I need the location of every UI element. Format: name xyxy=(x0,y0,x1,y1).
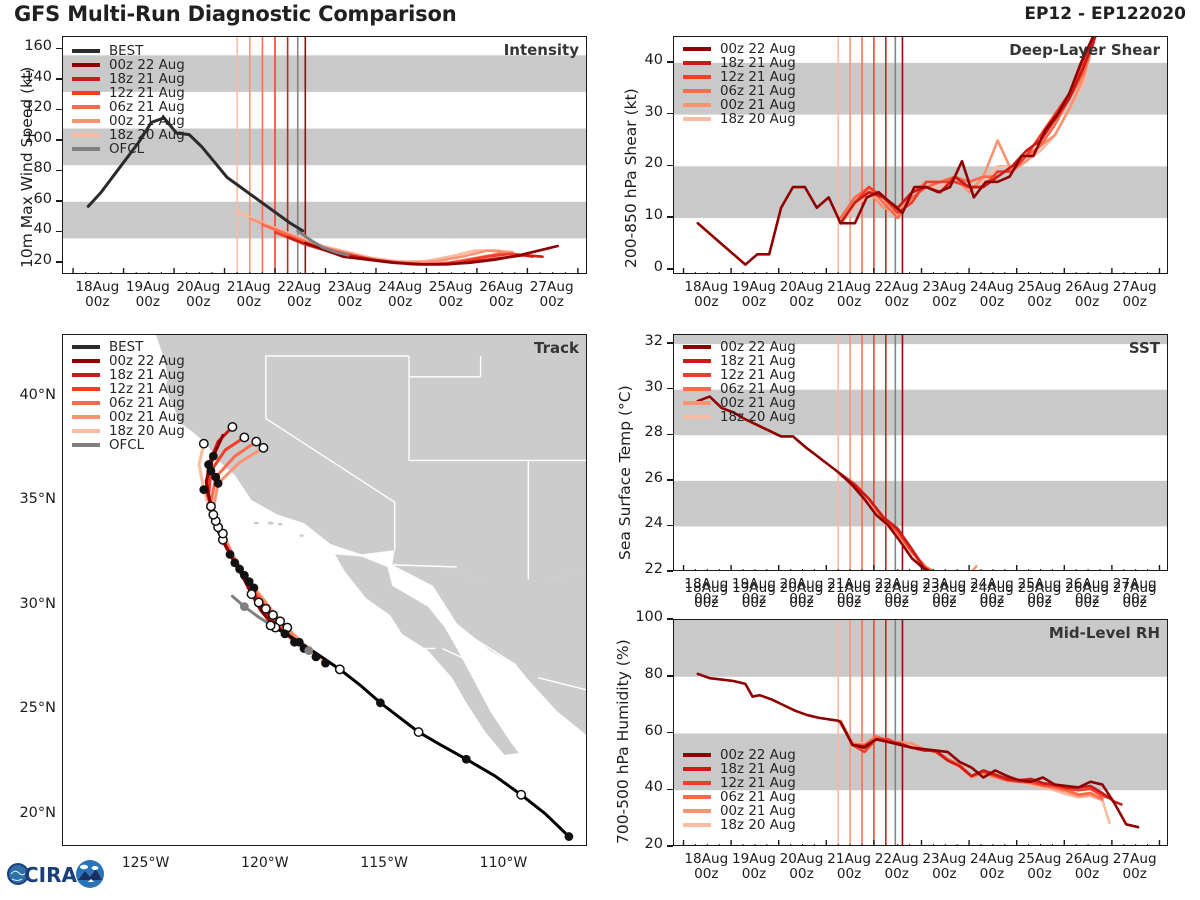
axis-tick-hour: 00z xyxy=(742,866,766,882)
legend-item-label: 00z 21 Aug xyxy=(109,114,185,129)
legend-item[interactable]: 12z 21 Aug xyxy=(72,382,185,396)
track-panel-title: Track xyxy=(534,339,579,357)
legend-item-label: 12z 21 Aug xyxy=(109,382,185,397)
legend-color-swatch xyxy=(72,147,100,151)
legend-item-label: 12z 21 Aug xyxy=(720,368,796,383)
axis-tick-mark xyxy=(56,78,62,80)
legend-color-swatch xyxy=(72,345,100,349)
legend-color-swatch xyxy=(72,429,100,433)
axis-tick-mark xyxy=(667,675,673,677)
legend-item-label: 00z 21 Aug xyxy=(720,98,796,113)
legend-item-label: 00z 21 Aug xyxy=(720,396,796,411)
axis-tick-label: 30°N xyxy=(0,596,56,612)
axis-tick-label: 26 xyxy=(621,470,663,486)
axis-tick-label: 125°W xyxy=(106,856,186,872)
axis-tick-hour: 00z xyxy=(1027,294,1051,310)
axis-tick-date: 27Aug xyxy=(1113,851,1157,867)
legend-item-label: 00z 22 Aug xyxy=(109,354,185,369)
axis-tick-date: 23Aug xyxy=(328,279,372,295)
axis-tick-hour: 00z xyxy=(1122,595,1146,611)
axis-tick-label: 27Aug00z xyxy=(1101,280,1169,310)
axis-tick-mark xyxy=(667,434,673,436)
axis-tick-hour: 00z xyxy=(1122,294,1146,310)
legend-item[interactable]: OFCL xyxy=(72,438,185,452)
legend-color-swatch xyxy=(683,373,711,377)
axis-tick-mark xyxy=(56,139,62,141)
rh-panel-title: Mid-Level RH xyxy=(1049,624,1160,642)
axis-tick-hour: 00z xyxy=(694,595,718,611)
legend-item[interactable]: 12z 21 Aug xyxy=(683,776,796,790)
legend-item[interactable]: 00z 21 Aug xyxy=(683,396,796,410)
axis-tick-hour: 00z xyxy=(932,294,956,310)
axis-tick-hour: 00z xyxy=(980,595,1004,611)
legend-color-swatch xyxy=(683,75,711,79)
legend-item[interactable]: 06z 21 Aug xyxy=(72,396,185,410)
legend-item-label: OFCL xyxy=(109,142,144,157)
legend-color-swatch xyxy=(683,795,711,799)
axis-tick-hour: 00z xyxy=(1027,866,1051,882)
rh-legend: 00z 22 Aug18z 21 Aug12z 21 Aug06z 21 Aug… xyxy=(683,748,796,832)
axis-tick-label: 60 xyxy=(621,723,663,739)
legend-color-swatch xyxy=(72,415,100,419)
legend-color-swatch xyxy=(72,359,100,363)
axis-tick-date: 25Aug xyxy=(429,279,473,295)
legend-item-label: 00z 21 Aug xyxy=(109,410,185,425)
axis-tick-mark xyxy=(56,109,62,111)
legend-item[interactable]: 18z 20 Aug xyxy=(683,818,796,832)
legend-item-label: 00z 22 Aug xyxy=(720,42,796,57)
axis-tick-hour: 00z xyxy=(742,595,766,611)
axis-tick-label: 80 xyxy=(10,160,52,176)
legend-color-swatch xyxy=(72,119,100,123)
axis-tick-label: 40 xyxy=(621,52,663,68)
axis-tick-label: 28 xyxy=(621,424,663,440)
axis-tick-hour: 00z xyxy=(287,294,311,310)
axis-tick-hour: 00z xyxy=(1075,294,1099,310)
axis-tick-label: 40 xyxy=(10,221,52,237)
cira-logo: CIRA xyxy=(4,852,108,896)
axis-tick-label: 32 xyxy=(621,333,663,349)
axis-tick-mark xyxy=(667,268,673,270)
axis-tick-label: 25°N xyxy=(0,700,56,716)
legend-item[interactable]: 12z 21 Aug xyxy=(683,368,796,382)
axis-tick-hour: 00z xyxy=(789,595,813,611)
legend-item[interactable]: 00z 22 Aug xyxy=(72,354,185,368)
legend-color-swatch xyxy=(683,401,711,405)
axis-tick-hour: 00z xyxy=(237,294,261,310)
legend-item-label: 12z 21 Aug xyxy=(720,776,796,791)
storm-id-label: EP12 - EP122020 xyxy=(1024,4,1186,24)
legend-color-swatch xyxy=(683,89,711,93)
legend-item[interactable]: 00z 22 Aug xyxy=(683,748,796,762)
axis-tick-label: 22 xyxy=(621,561,663,577)
legend-item[interactable]: BEST xyxy=(72,44,185,58)
axis-tick-label: 120 xyxy=(10,99,52,115)
legend-color-swatch xyxy=(683,753,711,757)
legend-item[interactable]: 18z 21 Aug xyxy=(72,72,185,86)
axis-tick-label: 120°W xyxy=(225,856,305,872)
axis-tick-mark xyxy=(56,200,62,202)
axis-tick-hour: 00z xyxy=(837,294,861,310)
legend-color-swatch xyxy=(72,91,100,95)
axis-tick-label: 100 xyxy=(10,130,52,146)
axis-tick-label: 35°N xyxy=(0,491,56,507)
legend-color-swatch xyxy=(72,373,100,377)
track-legend: BEST00z 22 Aug18z 21 Aug12z 21 Aug06z 21… xyxy=(72,340,185,452)
legend-color-swatch xyxy=(683,359,711,363)
legend-color-swatch xyxy=(683,781,711,785)
axis-tick-date: 19Aug xyxy=(126,279,170,295)
axis-tick-hour: 00z xyxy=(742,294,766,310)
legend-color-swatch xyxy=(72,63,100,67)
axis-tick-hour: 00z xyxy=(694,866,718,882)
axis-tick-hour: 00z xyxy=(85,294,109,310)
legend-item-label: 18z 20 Aug xyxy=(720,818,796,833)
legend-item[interactable]: 18z 21 Aug xyxy=(72,368,185,382)
axis-tick-label: 80 xyxy=(621,666,663,682)
axis-tick-mark xyxy=(667,479,673,481)
axis-tick-hour: 00z xyxy=(694,294,718,310)
axis-tick-date: 21Aug xyxy=(227,279,271,295)
legend-color-swatch xyxy=(72,387,100,391)
legend-color-swatch xyxy=(683,117,711,121)
axis-tick-label: 100 xyxy=(621,609,663,625)
axis-tick-mark xyxy=(667,789,673,791)
axis-tick-mark xyxy=(667,61,673,63)
legend-item-label: 00z 22 Aug xyxy=(720,748,796,763)
axis-tick-mark xyxy=(56,261,62,263)
intensity-legend: BEST00z 22 Aug18z 21 Aug12z 21 Aug06z 21… xyxy=(72,44,185,156)
axis-tick-hour: 00z xyxy=(1027,595,1051,611)
axis-tick-date: 27Aug xyxy=(1113,580,1157,596)
legend-item[interactable]: 00z 21 Aug xyxy=(72,410,185,424)
axis-tick-date: 20Aug xyxy=(176,279,220,295)
legend-item[interactable]: 00z 21 Aug xyxy=(72,114,185,128)
axis-tick-hour: 00z xyxy=(837,595,861,611)
legend-color-swatch xyxy=(72,49,100,53)
axis-tick-date: 22Aug xyxy=(277,279,321,295)
legend-color-swatch xyxy=(72,401,100,405)
legend-item[interactable]: 00z 21 Aug xyxy=(683,804,796,818)
axis-tick-mark xyxy=(56,48,62,50)
axis-tick-hour: 00z xyxy=(884,866,908,882)
legend-item[interactable]: 18z 21 Aug xyxy=(683,762,796,776)
axis-tick-label: 115°W xyxy=(344,856,424,872)
axis-tick-label: 140 xyxy=(10,69,52,85)
legend-color-swatch xyxy=(683,345,711,349)
axis-tick-hour: 00z xyxy=(438,294,462,310)
page-title: GFS Multi-Run Diagnostic Comparison xyxy=(14,2,456,26)
axis-tick-hour: 00z xyxy=(186,294,210,310)
legend-item[interactable]: 06z 21 Aug xyxy=(72,100,185,114)
legend-item-label: 06z 21 Aug xyxy=(720,84,796,99)
legend-item[interactable]: 06z 21 Aug xyxy=(683,382,796,396)
axis-tick-hour: 00z xyxy=(884,294,908,310)
axis-tick-mark xyxy=(667,165,673,167)
legend-item[interactable]: 18z 20 Aug xyxy=(683,410,796,424)
axis-tick-hour: 00z xyxy=(980,294,1004,310)
axis-tick-mark xyxy=(667,845,673,847)
axis-tick-hour: 00z xyxy=(1075,595,1099,611)
legend-item[interactable]: 00z 21 Aug xyxy=(683,98,796,112)
legend-item[interactable]: 18z 20 Aug xyxy=(683,112,796,126)
axis-tick-hour: 00z xyxy=(980,866,1004,882)
axis-tick-hour: 00z xyxy=(539,294,563,310)
axis-tick-date: 18Aug xyxy=(75,279,119,295)
axis-tick-hour: 00z xyxy=(1122,866,1146,882)
legend-item[interactable]: 06z 21 Aug xyxy=(683,790,796,804)
legend-color-swatch xyxy=(683,415,711,419)
axis-tick-label: 30 xyxy=(621,104,663,120)
axis-tick-hour: 00z xyxy=(932,595,956,611)
axis-tick-mark xyxy=(667,732,673,734)
axis-tick-hour: 00z xyxy=(1075,866,1099,882)
axis-tick-mark xyxy=(667,216,673,218)
axis-tick-label: 27Aug00z xyxy=(518,280,586,310)
legend-item-label: 06z 21 Aug xyxy=(109,100,185,115)
legend-item-label: 18z 20 Aug xyxy=(720,112,796,127)
legend-item-label: BEST xyxy=(109,340,143,355)
legend-item[interactable]: 06z 21 Aug xyxy=(683,84,796,98)
legend-color-swatch xyxy=(683,823,711,827)
axis-tick-mark xyxy=(667,113,673,115)
legend-item-label: BEST xyxy=(109,44,143,59)
axis-tick-mark xyxy=(56,231,62,233)
sst-panel-title: SST xyxy=(1129,339,1160,357)
axis-tick-label: 40 xyxy=(621,779,663,795)
legend-item-label: OFCL xyxy=(109,438,144,453)
shear-legend: 00z 22 Aug18z 21 Aug12z 21 Aug06z 21 Aug… xyxy=(683,42,796,126)
axis-tick-label: 20 xyxy=(621,155,663,171)
legend-item-label: 00z 22 Aug xyxy=(109,58,185,73)
legend-item-label: 18z 20 Aug xyxy=(109,128,185,143)
axis-tick-mark xyxy=(667,342,673,344)
legend-item[interactable]: 18z 21 Aug xyxy=(683,354,796,368)
axis-tick-hour: 00z xyxy=(837,866,861,882)
legend-color-swatch xyxy=(72,133,100,137)
legend-color-swatch xyxy=(683,61,711,65)
axis-tick-label: 160 xyxy=(10,38,52,54)
axis-tick-mark xyxy=(667,570,673,572)
axis-tick-label: 60 xyxy=(10,191,52,207)
legend-item-label: 06z 21 Aug xyxy=(720,790,796,805)
legend-item[interactable]: 00z 22 Aug xyxy=(72,58,185,72)
axis-tick-date: 24Aug xyxy=(378,279,422,295)
axis-tick-hour: 00z xyxy=(136,294,160,310)
legend-color-swatch xyxy=(683,103,711,107)
axis-tick-hour: 00z xyxy=(789,866,813,882)
axis-tick-mark xyxy=(56,170,62,172)
axis-tick-mark xyxy=(667,388,673,390)
legend-item-label: 18z 21 Aug xyxy=(720,762,796,777)
axis-tick-mark xyxy=(667,525,673,527)
sst-legend: 00z 22 Aug18z 21 Aug12z 21 Aug06z 21 Aug… xyxy=(683,340,796,424)
legend-item[interactable]: 00z 22 Aug xyxy=(683,42,796,56)
legend-item[interactable]: BEST xyxy=(72,340,185,354)
axis-tick-hour: 00z xyxy=(388,294,412,310)
legend-item[interactable]: 12z 21 Aug xyxy=(683,70,796,84)
axis-tick-hour: 00z xyxy=(789,294,813,310)
legend-item[interactable]: 18z 21 Aug xyxy=(683,56,796,70)
legend-item[interactable]: 12z 21 Aug xyxy=(72,86,185,100)
axis-tick-label: 40°N xyxy=(0,387,56,403)
axis-tick-date: 26Aug xyxy=(479,279,523,295)
legend-item-label: 18z 21 Aug xyxy=(720,354,796,369)
legend-color-swatch xyxy=(72,77,100,81)
axis-tick-label: 0 xyxy=(621,259,663,275)
axis-tick-label: 30 xyxy=(621,379,663,395)
axis-tick-label: 10 xyxy=(621,207,663,223)
legend-item-label: 06z 21 Aug xyxy=(720,382,796,397)
legend-item-label: 12z 21 Aug xyxy=(109,86,185,101)
axis-tick-label: 20 xyxy=(10,252,52,268)
axis-tick-mark xyxy=(667,618,673,620)
legend-item-label: 12z 21 Aug xyxy=(720,70,796,85)
legend-item-label: 06z 21 Aug xyxy=(109,396,185,411)
legend-item[interactable]: 18z 20 Aug xyxy=(72,424,185,438)
axis-tick-label: 110°W xyxy=(463,856,543,872)
shear-panel-title: Deep-Layer Shear xyxy=(1009,41,1160,59)
axis-tick-date: 27Aug xyxy=(530,279,574,295)
legend-color-swatch xyxy=(683,809,711,813)
legend-item-label: 18z 21 Aug xyxy=(109,368,185,383)
axis-tick-hour: 00z xyxy=(338,294,362,310)
legend-item-label: 18z 21 Aug xyxy=(720,56,796,71)
legend-item-label: 18z 20 Aug xyxy=(720,410,796,425)
legend-item[interactable]: 18z 20 Aug xyxy=(72,128,185,142)
axis-tick-label: 27Aug00z xyxy=(1101,581,1169,611)
legend-item[interactable]: OFCL xyxy=(72,142,185,156)
intensity-panel-title: Intensity xyxy=(504,41,579,59)
legend-color-swatch xyxy=(683,387,711,391)
legend-item[interactable]: 00z 22 Aug xyxy=(683,340,796,354)
legend-item-label: 00z 22 Aug xyxy=(720,340,796,355)
legend-color-swatch xyxy=(72,443,100,447)
legend-color-swatch xyxy=(72,105,100,109)
axis-tick-hour: 00z xyxy=(932,866,956,882)
legend-color-swatch xyxy=(683,767,711,771)
axis-tick-label: 24 xyxy=(621,515,663,531)
axis-tick-hour: 00z xyxy=(884,595,908,611)
axis-tick-date: 27Aug xyxy=(1113,279,1157,295)
legend-item-label: 18z 21 Aug xyxy=(109,72,185,87)
legend-color-swatch xyxy=(683,47,711,51)
axis-tick-label: 20 xyxy=(621,836,663,852)
axis-tick-label: 20°N xyxy=(0,805,56,821)
axis-tick-hour: 00z xyxy=(489,294,513,310)
legend-item-label: 00z 21 Aug xyxy=(720,804,796,819)
svg-text:CIRA: CIRA xyxy=(24,863,78,887)
axis-tick-label: 27Aug00z xyxy=(1101,852,1169,882)
legend-item-label: 18z 20 Aug xyxy=(109,424,185,439)
